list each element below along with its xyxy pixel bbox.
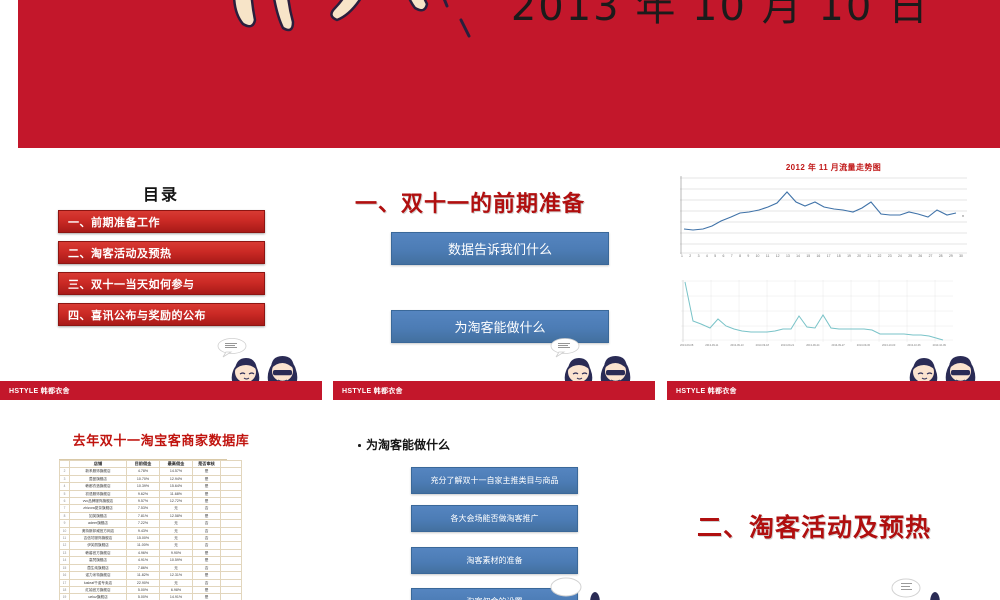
table-cell: 否 <box>193 505 221 512</box>
table-cell: 3 <box>60 475 70 482</box>
table-row: 8如英旗舰店7.81%12.58%是 <box>60 512 242 519</box>
table-cell-spacer <box>221 542 242 549</box>
table-cell: 无 <box>160 535 193 542</box>
table-cell: 9.57% <box>127 498 160 505</box>
toc-item-2[interactable]: 二、淘客活动及预热 <box>58 241 265 264</box>
table-cell: 15 <box>60 564 70 571</box>
presentation-date: 2013 年 10 月 10 日 <box>511 0 930 32</box>
table-cell-spacer <box>221 557 242 564</box>
merchant-table-title: 去年双十一淘宝客商家数据库 <box>0 430 322 449</box>
section-two-title: 二、淘客活动及预热 <box>697 508 931 544</box>
table-cell: 是 <box>193 490 221 497</box>
mascot-hair-peek-icon <box>589 590 601 600</box>
table-cell: 6.98% <box>160 586 193 593</box>
table-cell: 茵曼旗舰店 <box>70 475 127 482</box>
section-one-button-1[interactable]: 数据告诉我们什么 <box>391 232 609 265</box>
table-cell: 红袖官方旗舰店 <box>70 586 127 593</box>
table-cell: 初语服饰旗舰店 <box>70 490 127 497</box>
slide-section-one[interactable]: 一、双十一的前期准备 数据告诉我们什么 为淘客能做什么 <box>333 154 655 400</box>
col-gutter-1 <box>322 154 333 400</box>
table-cell: 10.39% <box>127 483 160 490</box>
table-cell: 新禾服饰旗舰店 <box>70 468 127 475</box>
table-row: 13韩馨官方旗舰店4.96%9.90%是 <box>60 549 242 556</box>
table-cell: zhizora夏奈旗舰店 <box>70 505 127 512</box>
header-current-commission: 目前佣金 <box>127 461 160 468</box>
footer-brand-label: HSTYLE 韩都衣舍 <box>333 386 403 396</box>
table-cell: 无 <box>160 505 193 512</box>
table-cell-spacer <box>221 586 242 593</box>
speech-bubble-icon <box>549 576 583 600</box>
table-cell-spacer <box>221 468 242 475</box>
table-cell: ueluz旗舰店 <box>70 594 127 600</box>
table-cell: 5 <box>60 490 70 497</box>
table-cell-spacer <box>221 520 242 527</box>
table-row: 9adeer旗舰店7.22%无否 <box>60 520 242 527</box>
table-row: 7zhizora夏奈旗舰店7.53%无否 <box>60 505 242 512</box>
table-cell: 无 <box>160 579 193 586</box>
table-row: 16诺力米特旗舰店11.82%12.31%是 <box>60 572 242 579</box>
table-cell: 17 <box>60 579 70 586</box>
table-cell: 5.00% <box>127 586 160 593</box>
taoke-action-button-2[interactable]: 各大会场能否做淘客推广 <box>411 505 578 532</box>
table-cell: 是 <box>193 512 221 519</box>
header-spacer <box>221 461 242 468</box>
table-cell: 否 <box>193 542 221 549</box>
table-row: 11吉信坊服饰旗舰店15.00%无否 <box>60 535 242 542</box>
running-children-illustration <box>95 0 475 44</box>
slide-merchant-database[interactable]: 去年双十一淘宝客商家数据库 店铺 目前佣金 最高佣金 是否审核 2新禾服饰旗舰店… <box>0 408 322 600</box>
table-cell-spacer <box>221 527 242 534</box>
table-cell-spacer <box>221 549 242 556</box>
table-row: 2新禾服饰旗舰店4.78%14.57%是 <box>60 468 242 475</box>
footer-brand-label: HSTYLE 韩都衣舍 <box>667 386 737 396</box>
table-cell: 10 <box>60 527 70 534</box>
table-row: 4韩都衣造旗舰店10.39%15.64%是 <box>60 483 242 490</box>
table-cell-spacer <box>221 483 242 490</box>
table-cell: 是 <box>193 557 221 564</box>
table-cell: 12.72% <box>160 498 193 505</box>
table-cell: 2 <box>60 468 70 475</box>
table-cell: 否 <box>193 527 221 534</box>
slide-footer: HSTYLE 韩都衣舍 <box>0 381 322 400</box>
table-cell: 14 <box>60 557 70 564</box>
table-cell: vvc品牌服饰旗舰店 <box>70 498 127 505</box>
taoke-action-button-1[interactable]: 充分了解双十一自家主推类目与商品 <box>411 467 578 494</box>
table-cell: 4.78% <box>127 468 160 475</box>
speech-bubble-icon <box>551 339 579 358</box>
table-cell: 奥特斯邦威官方网店 <box>70 527 127 534</box>
table-cell: 4.96% <box>127 549 160 556</box>
table-cell: 15.64% <box>160 483 193 490</box>
speech-bubble-icon <box>889 576 923 600</box>
table-cell: 是 <box>193 483 221 490</box>
header-index <box>60 461 70 468</box>
slide-taoke-actions[interactable]: 为淘客能做什么 充分了解双十一自家主推类目与商品 各大会场能否做淘客推广 淘客素… <box>333 408 655 600</box>
table-cell: 是 <box>193 549 221 556</box>
slide-deck-grid: 2013 年 10 月 10 日 目录 一、前期准备工作 二、淘客活动及预热 三… <box>0 0 1000 600</box>
table-cell: 7.22% <box>127 520 160 527</box>
table-row: 17lusleaf千诺专卖店22.90%无否 <box>60 579 242 586</box>
table-row: 19ueluz旗舰店5.00%14.91%是 <box>60 594 242 600</box>
table-cell: 无 <box>160 520 193 527</box>
chart-title: 2012 年 11 月流量走势图 <box>667 162 1000 173</box>
table-cell: 伊芙丽旗舰店 <box>70 542 127 549</box>
table-cell: 4.91% <box>127 557 160 564</box>
toc-list: 一、前期准备工作 二、淘客活动及预热 三、双十一当天如何参与 四、喜讯公布与奖励… <box>58 210 265 334</box>
table-cell: 7.81% <box>127 512 160 519</box>
row-gutter-2 <box>0 400 1000 408</box>
table-cell-spacer <box>221 475 242 482</box>
page-title: 目录 <box>0 181 322 205</box>
table-cell: 无 <box>160 527 193 534</box>
table-cell: 是 <box>193 586 221 593</box>
table-row: 12伊芙丽旗舰店11.00%无否 <box>60 542 242 549</box>
table-cell: 11.00% <box>127 542 160 549</box>
table-cell: 11.68% <box>160 490 193 497</box>
table-row: 10奥特斯邦威官方网店9.43%无否 <box>60 527 242 534</box>
toc-item-3[interactable]: 三、双十一当天如何参与 <box>58 272 265 295</box>
col-gutter-2 <box>655 154 667 400</box>
table-cell-spacer <box>221 490 242 497</box>
table-cell: 否 <box>193 564 221 571</box>
hero-banner-slide[interactable]: 2013 年 10 月 10 日 <box>0 0 1000 148</box>
table-cell: 韩都衣造旗舰店 <box>70 483 127 490</box>
bullet-point-icon <box>358 444 361 447</box>
table-cell: 7.53% <box>127 505 160 512</box>
table-cell: 4 <box>60 483 70 490</box>
merchant-table-wrapper[interactable]: 店铺 目前佣金 最高佣金 是否审核 2新禾服饰旗舰店4.78%14.57%是3茵… <box>59 459 227 600</box>
table-cell: 16 <box>60 572 70 579</box>
table-cell: 无 <box>160 542 193 549</box>
table-row: 14高梵旗舰店4.91%10.59%是 <box>60 557 242 564</box>
table-cell: 是 <box>193 594 221 600</box>
table-cell: 否 <box>193 535 221 542</box>
table-cell-spacer <box>221 564 242 571</box>
col-gutter-3 <box>322 408 333 600</box>
table-cell: 14.57% <box>160 468 193 475</box>
taoke-actions-title: 为淘客能做什么 <box>366 436 450 453</box>
table-cell: 是 <box>193 498 221 505</box>
table-cell-spacer <box>221 498 242 505</box>
mascot-hair-peek-icon <box>929 590 941 600</box>
table-cell-spacer <box>221 535 242 542</box>
table-cell: 11 <box>60 535 70 542</box>
table-cell: 9.43% <box>127 527 160 534</box>
slide-footer: HSTYLE 韩都衣舍 <box>667 381 1000 400</box>
table-cell: 11.82% <box>127 572 160 579</box>
slide-footer: HSTYLE 韩都衣舍 <box>333 381 655 400</box>
table-cell-spacer <box>221 579 242 586</box>
table-cell: 是 <box>193 475 221 482</box>
table-cell: adeer旗舰店 <box>70 520 127 527</box>
table-header-row: 店铺 目前佣金 最高佣金 是否审核 <box>60 461 242 468</box>
table-cell: 9.90% <box>160 549 193 556</box>
table-row: 3茵曼旗舰店10.70%12.94%是 <box>60 475 242 482</box>
table-cell-spacer <box>221 505 242 512</box>
table-cell: 5.00% <box>127 594 160 600</box>
table-cell-spacer <box>221 512 242 519</box>
table-cell: 9.62% <box>127 490 160 497</box>
table-cell-spacer <box>221 572 242 579</box>
merchant-table: 店铺 目前佣金 最高佣金 是否审核 2新禾服饰旗舰店4.78%14.57%是3茵… <box>59 460 242 600</box>
merchant-table-body: 2新禾服饰旗舰店4.78%14.57%是3茵曼旗舰店10.70%12.94%是4… <box>60 468 242 600</box>
chart-november-traffic <box>680 176 967 254</box>
table-cell: 无 <box>160 564 193 571</box>
table-cell: 12 <box>60 542 70 549</box>
section-one-title: 一、双十一的前期准备 <box>355 186 585 218</box>
table-cell: 韩馨官方旗舰店 <box>70 549 127 556</box>
slide-traffic-chart[interactable]: 2012 年 11 月流量走势图 123456 789101112 131415… <box>667 154 1000 400</box>
table-row: 18红袖官方旗舰店5.00%6.98%是 <box>60 586 242 593</box>
table-cell: 否 <box>193 520 221 527</box>
table-cell: lusleaf千诺专卖店 <box>70 579 127 586</box>
table-cell: 15.00% <box>127 535 160 542</box>
toc-item-4[interactable]: 四、喜讯公布与奖励的公布 <box>58 303 265 326</box>
table-cell: 8 <box>60 512 70 519</box>
taoke-action-button-3[interactable]: 淘客素材的准备 <box>411 547 578 574</box>
chart-daily-trend <box>681 280 953 342</box>
table-cell: 9 <box>60 520 70 527</box>
footer-brand-label: HSTYLE 韩都衣舍 <box>0 386 70 396</box>
table-row: 15茵生纯旗舰店7.86%无否 <box>60 564 242 571</box>
speech-bubble-icon <box>218 339 246 358</box>
table-cell: 10.70% <box>127 475 160 482</box>
table-cell: 19 <box>60 594 70 600</box>
table-cell: 7 <box>60 505 70 512</box>
table-cell: 12.31% <box>160 572 193 579</box>
table-cell: 否 <box>193 579 221 586</box>
table-cell: 13 <box>60 549 70 556</box>
chart-x-axis-ticks: 123456 789101112 131415161718 1920212223… <box>681 254 963 258</box>
col-gutter-4 <box>655 408 667 600</box>
table-cell: 吉信坊服饰旗舰店 <box>70 535 127 542</box>
table-cell: 18 <box>60 586 70 593</box>
header-max-commission: 最高佣金 <box>160 461 193 468</box>
table-cell: 是 <box>193 468 221 475</box>
hero-left-margin <box>0 0 18 148</box>
toc-item-1[interactable]: 一、前期准备工作 <box>58 210 265 233</box>
table-cell: 高梵旗舰店 <box>70 557 127 564</box>
table-cell: 诺力米特旗舰店 <box>70 572 127 579</box>
table-cell: 14.91% <box>160 594 193 600</box>
header-approved: 是否审核 <box>193 461 221 468</box>
table-cell: 6 <box>60 498 70 505</box>
table-row: 6vvc品牌服饰旗舰店9.57%12.72%是 <box>60 498 242 505</box>
table-cell: 12.58% <box>160 512 193 519</box>
table-cell: 茵生纯旗舰店 <box>70 564 127 571</box>
table-row: 5初语服饰旗舰店9.62%11.68%是 <box>60 490 242 497</box>
table-cell-spacer <box>221 594 242 600</box>
table-cell: 是 <box>193 572 221 579</box>
header-shop: 店铺 <box>70 461 127 468</box>
table-cell: 如英旗舰店 <box>70 512 127 519</box>
table-cell: 7.86% <box>127 564 160 571</box>
table-cell: 10.59% <box>160 557 193 564</box>
slide-table-of-contents[interactable]: 目录 一、前期准备工作 二、淘客活动及预热 三、双十一当天如何参与 四、喜讯公布… <box>0 154 322 400</box>
table-cell: 22.90% <box>127 579 160 586</box>
slide-section-two[interactable]: 二、淘客活动及预热 <box>667 408 1000 600</box>
table-cell: 12.94% <box>160 475 193 482</box>
